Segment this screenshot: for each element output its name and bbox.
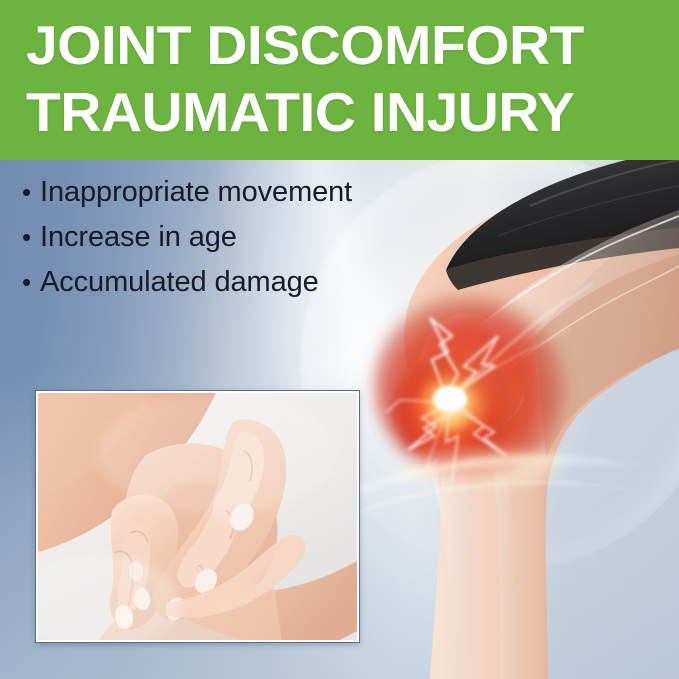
bullet-dot-icon: • (22, 215, 40, 260)
cause-list: • Inappropriate movement • Increase in a… (22, 170, 352, 305)
knee-anatomy-illustration (330, 150, 679, 679)
page-title: JOINT DISCOMFORT TRAUMATIC INJURY (26, 12, 658, 146)
joint-core-flare (407, 364, 495, 436)
list-item-label: Accumulated damage (40, 260, 319, 305)
list-item: • Inappropriate movement (22, 170, 352, 215)
knee-anatomy-svg (330, 150, 679, 679)
list-item: • Accumulated damage (22, 260, 352, 305)
list-item-label: Increase in age (40, 215, 237, 260)
hands-holding-knee-photo (36, 391, 359, 642)
page-title-line-2: TRAUMATIC INJURY (26, 79, 679, 146)
bullet-dot-icon: • (22, 170, 40, 215)
poster-root: JOINT DISCOMFORT TRAUMATIC INJURY • Inap… (0, 0, 679, 679)
list-item-label: Inappropriate movement (40, 170, 352, 215)
list-item: • Increase in age (22, 215, 352, 260)
header-band: JOINT DISCOMFORT TRAUMATIC INJURY (0, 0, 679, 160)
inset-photo-svg (38, 393, 357, 640)
page-title-line-1: JOINT DISCOMFORT (26, 12, 679, 79)
bullet-dot-icon: • (22, 260, 40, 305)
